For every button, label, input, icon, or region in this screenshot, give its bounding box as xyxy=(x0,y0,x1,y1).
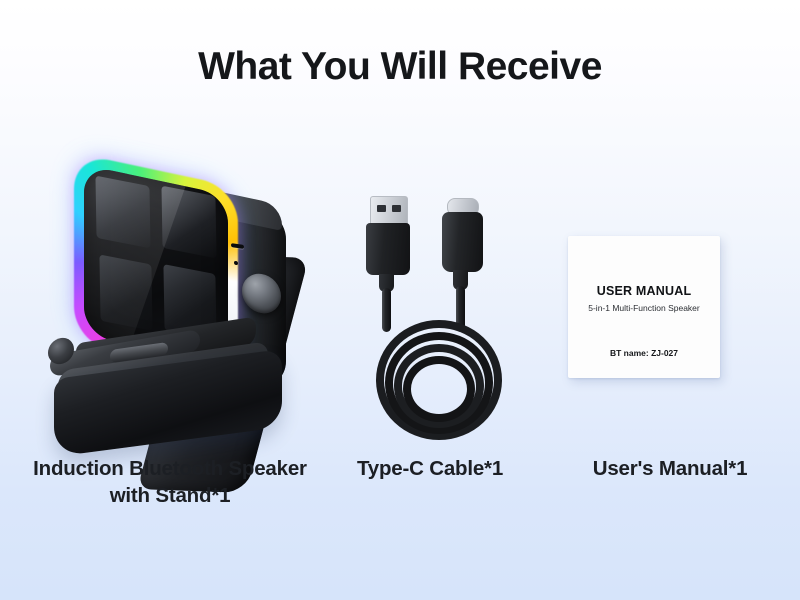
usb-c-connector-housing xyxy=(442,212,483,272)
caption-speaker-line2: with Stand*1 xyxy=(110,484,231,507)
caption-cable: Type-C Cable*1 xyxy=(310,455,550,482)
caption-speaker: Induction Bluetooth Speaker with Stand*1 xyxy=(5,455,335,509)
caption-speaker-line1: Induction Bluetooth Speaker xyxy=(33,457,307,480)
manual-cover-title: USER MANUAL xyxy=(568,284,720,298)
indicator-led-icon xyxy=(234,261,238,266)
cable-coil-loop xyxy=(403,356,475,422)
type-c-cable-image xyxy=(352,192,512,432)
manual-cover-subtitle: 5-in-1 Multi-Function Speaker xyxy=(568,303,720,313)
caption-manual: User's Manual*1 xyxy=(545,455,795,482)
user-manual-image: USER MANUAL 5-in-1 Multi-Function Speake… xyxy=(568,236,720,378)
usb-a-connector-housing xyxy=(366,223,410,275)
usb-contact xyxy=(392,205,401,212)
usb-a-connector-tip xyxy=(370,196,408,226)
page-title: What You Will Receive xyxy=(0,45,800,89)
product-inclusions-graphic: What You Will Receive xyxy=(0,0,800,600)
manual-bt-name: BT name: ZJ-027 xyxy=(568,348,720,358)
cable-lead xyxy=(382,288,391,332)
bluetooth-speaker-image xyxy=(48,168,308,436)
usb-contact xyxy=(377,205,386,212)
